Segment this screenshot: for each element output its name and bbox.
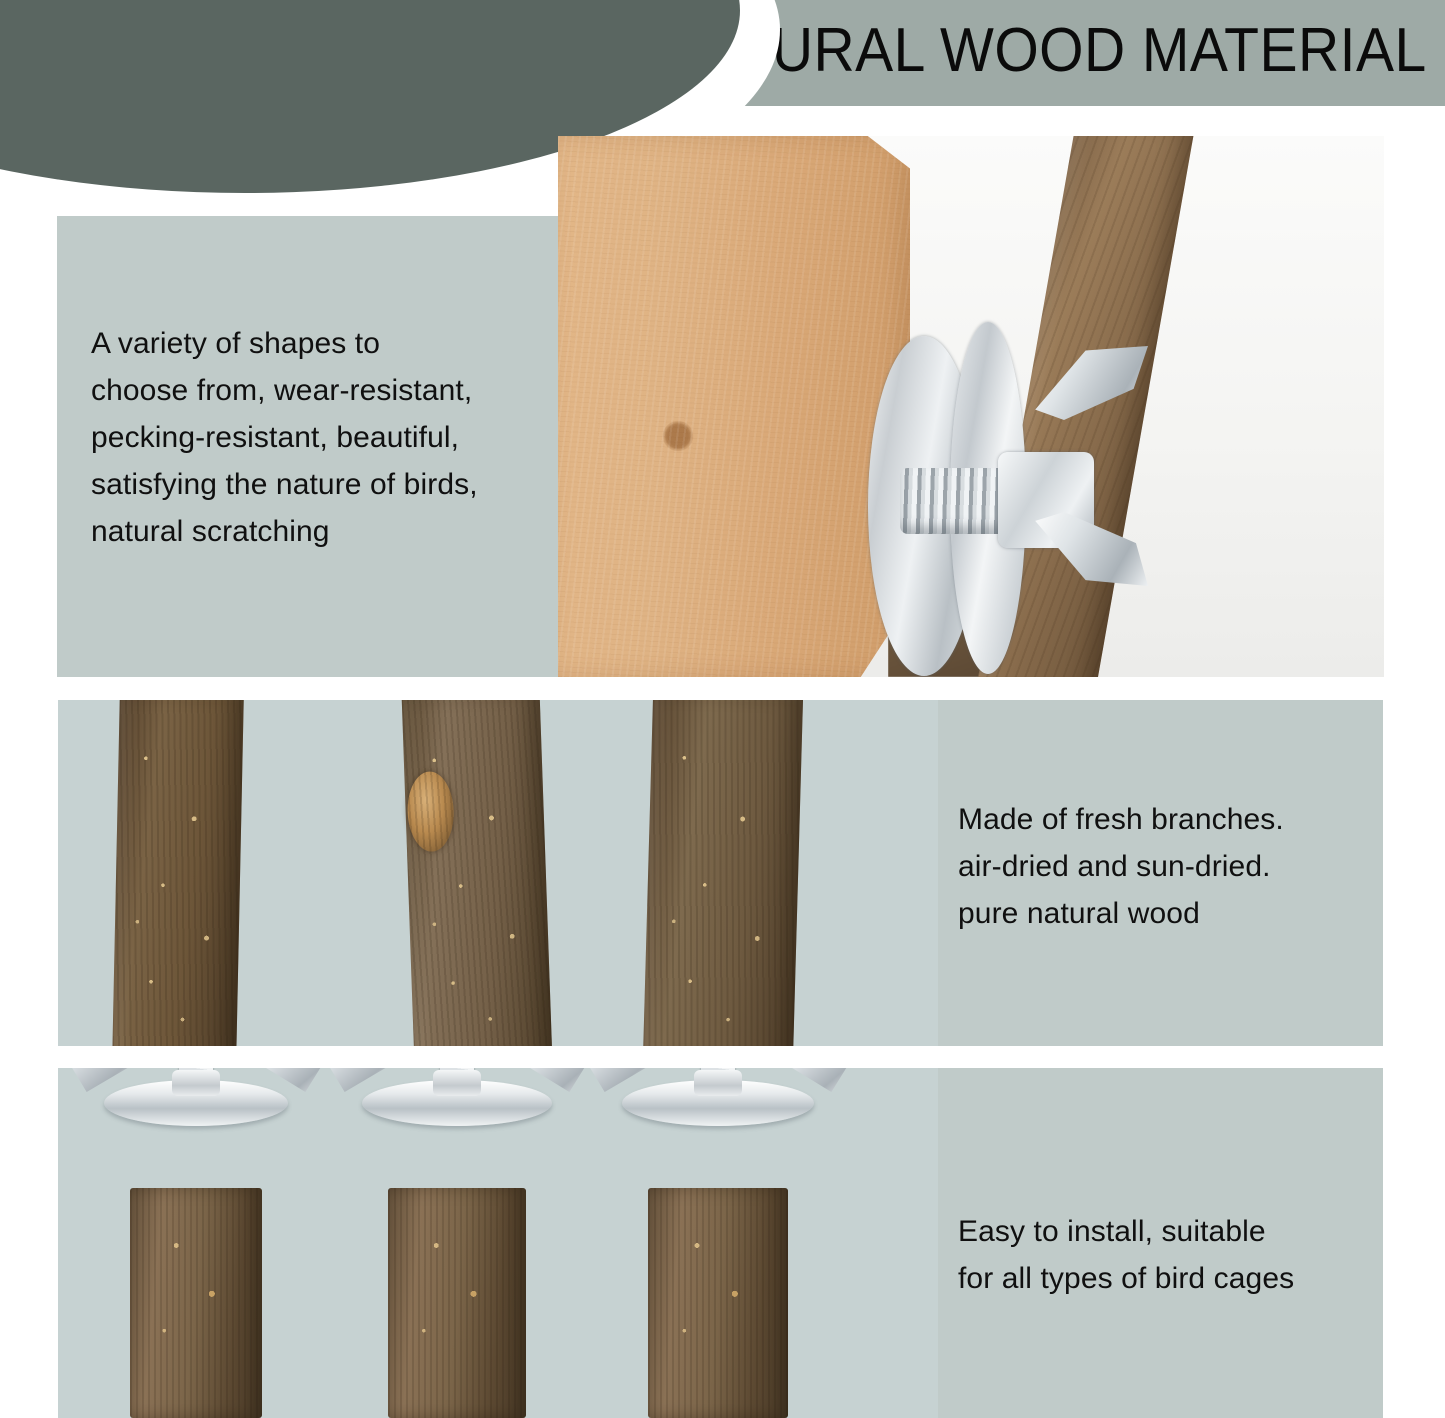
perch-2-washer-icon	[362, 1080, 552, 1126]
perch-2-wood	[388, 1188, 526, 1418]
branch-segment-3	[643, 700, 803, 1046]
section-2-copy: Made of fresh branches. air-dried and su…	[958, 796, 1378, 937]
branch-segment-2	[402, 700, 553, 1046]
perch-3	[648, 1080, 788, 1418]
infographic-canvas: NATURAL WOOD MATERIAL Product Details A …	[0, 0, 1445, 1418]
perch-3-wood	[648, 1188, 788, 1418]
wing-nut-hardware-group	[858, 316, 1188, 677]
perch-1-nut-hub	[172, 1070, 220, 1096]
section-3-copy: Easy to install, suitable for all types …	[958, 1208, 1378, 1302]
perch-1-wood	[130, 1188, 262, 1418]
perch-3-left-wing-icon	[578, 1068, 652, 1092]
perch-1-right-wing-icon	[258, 1068, 332, 1092]
wing-nut-upper-wing-icon	[1028, 346, 1148, 420]
three-bark-branches-photo	[58, 700, 938, 1046]
wood-block-with-wing-nut-photo	[558, 136, 1384, 677]
wing-nut-lower-wing-icon	[1028, 512, 1148, 586]
perch-3-nut-hub	[694, 1070, 742, 1096]
three-perches-with-wing-nuts-photo	[58, 1068, 938, 1418]
perch-2-nut-hub	[433, 1070, 481, 1096]
perch-2-right-wing-icon	[522, 1068, 596, 1092]
perch-3-right-wing-icon	[784, 1068, 858, 1092]
branch-knot	[406, 771, 455, 853]
perch-1-left-wing-icon	[60, 1068, 134, 1092]
perch-2-left-wing-icon	[318, 1068, 392, 1092]
perch-1-washer-icon	[104, 1080, 288, 1126]
perch-3-washer-icon	[622, 1080, 814, 1126]
perch-1	[130, 1080, 262, 1418]
section-1-copy: A variety of shapes to choose from, wear…	[91, 320, 551, 555]
perch-2	[388, 1080, 526, 1418]
branch-segment-1	[112, 700, 244, 1046]
